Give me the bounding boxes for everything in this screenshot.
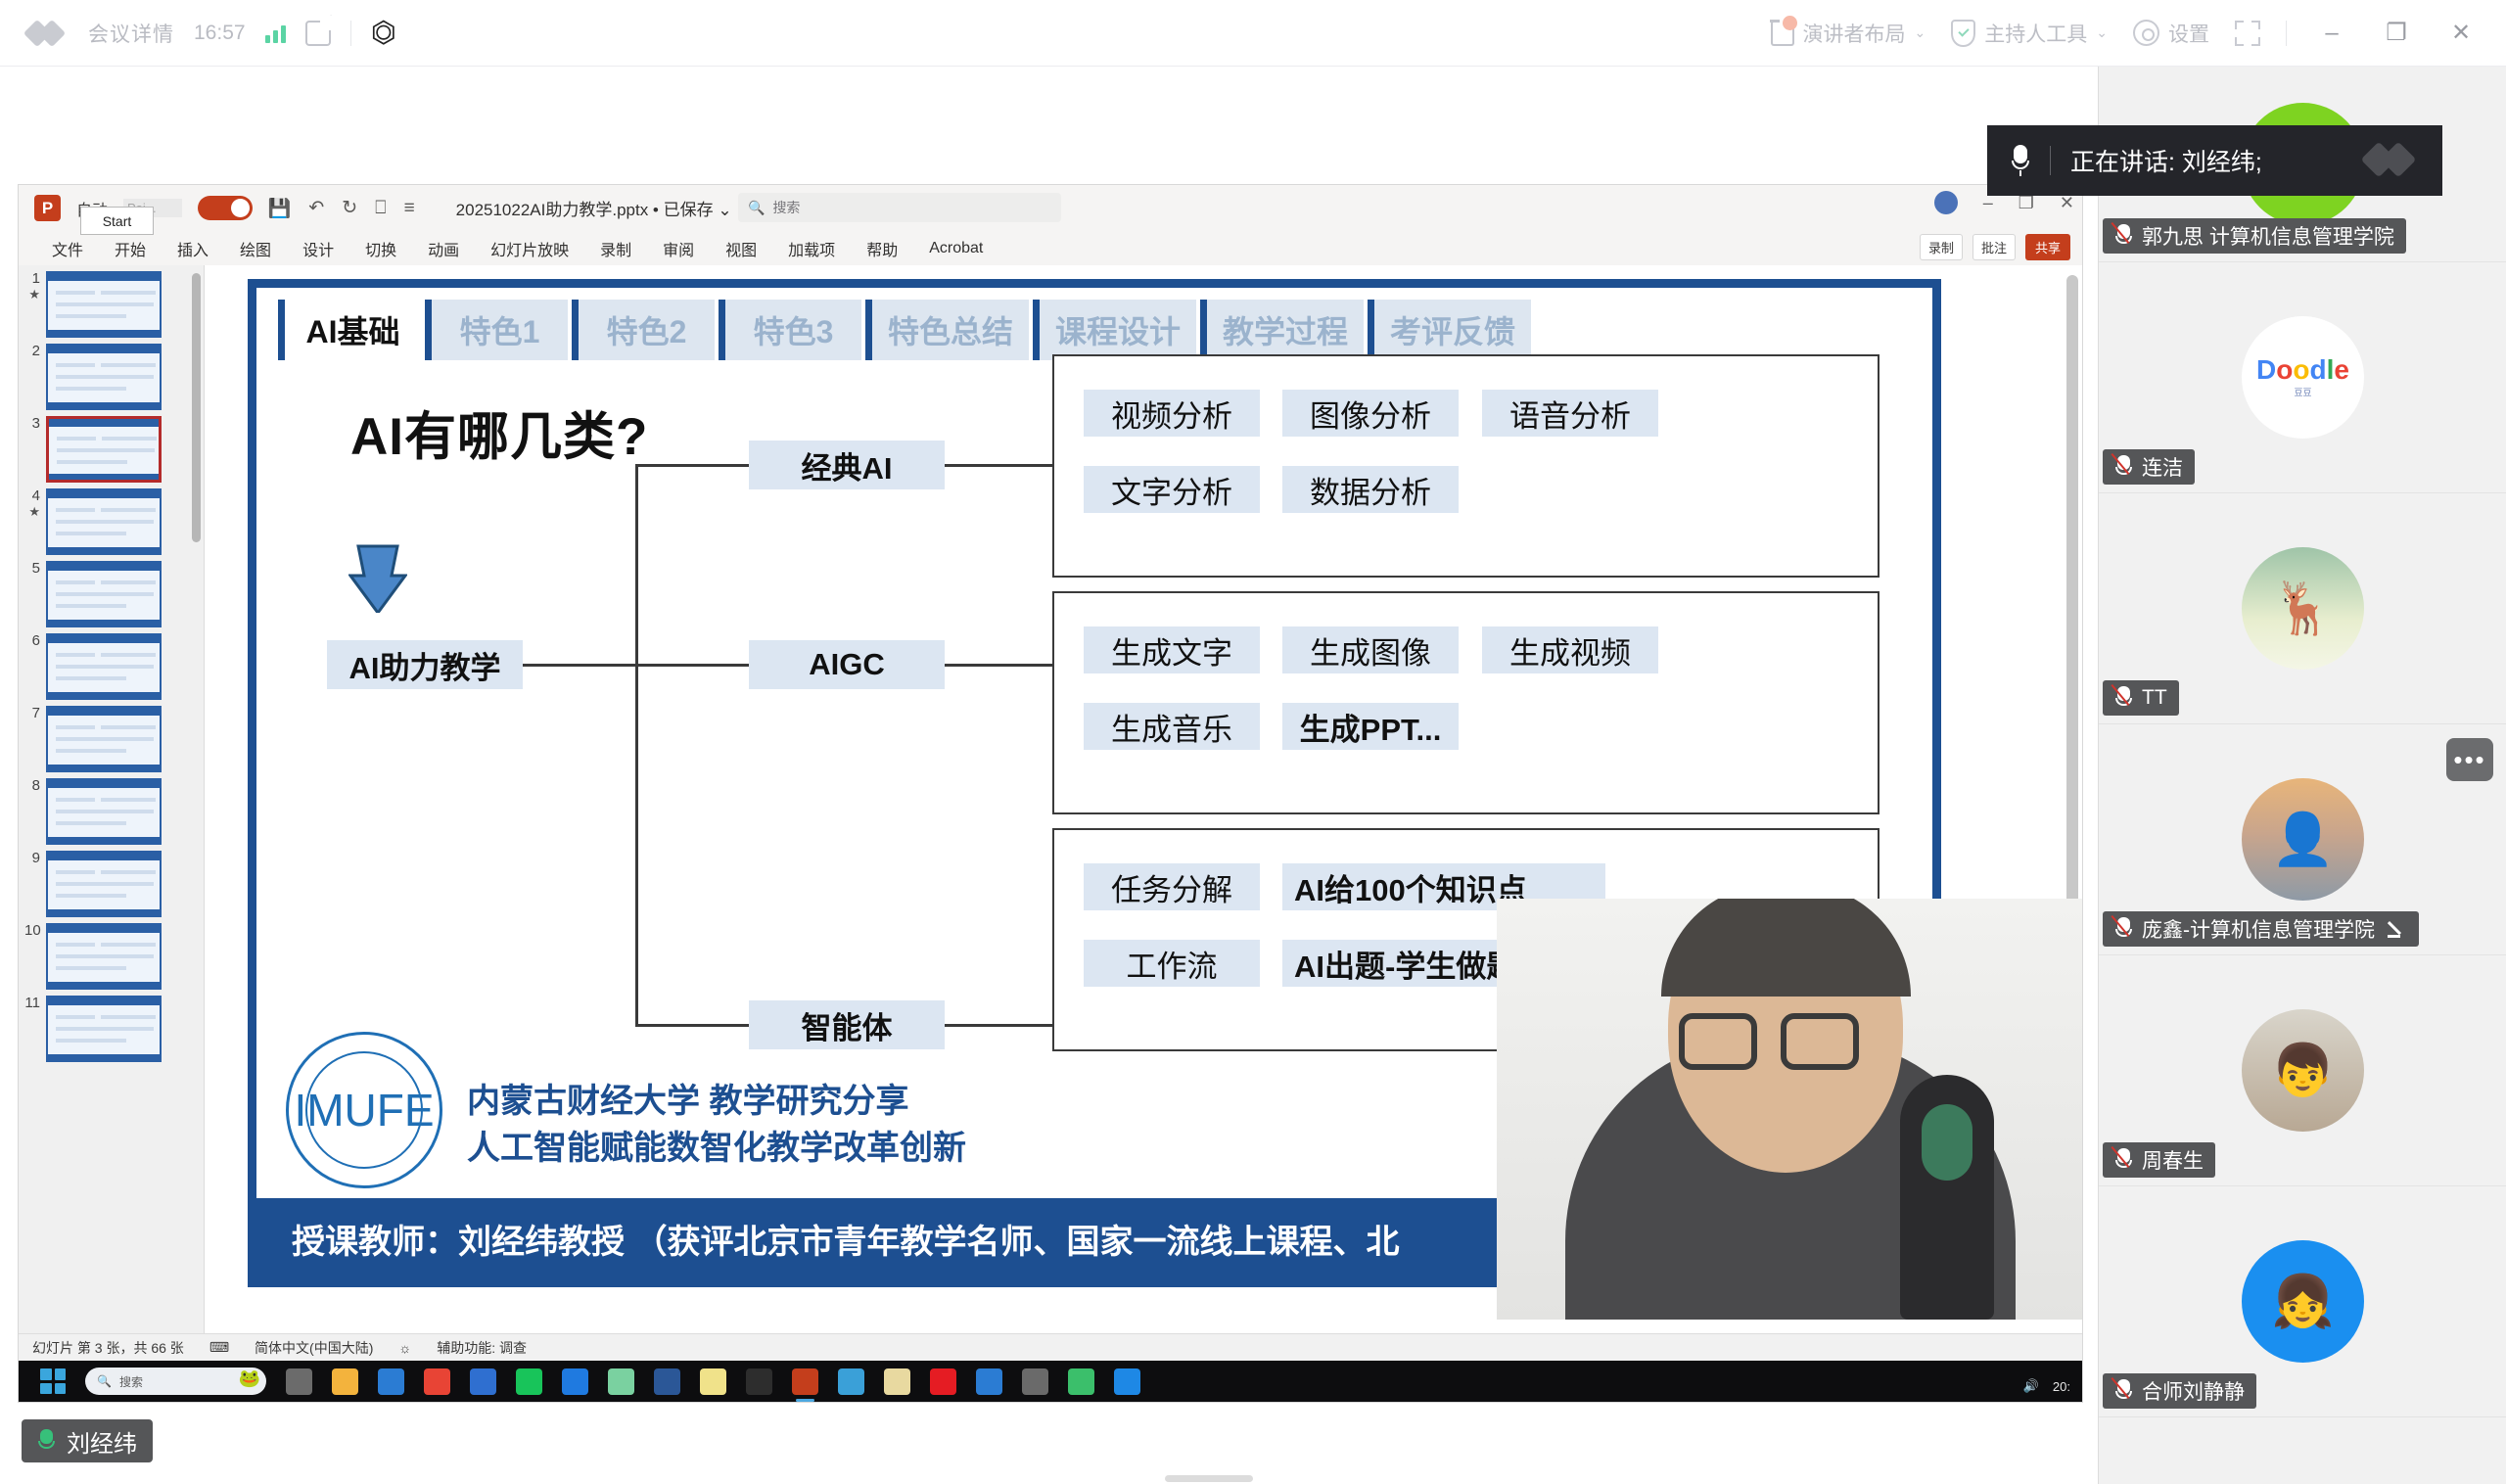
powerpoint-status-bar: 幻灯片 第 3 张，共 66 张 ⌨ 简体中文(中国大陆) ☼ 辅助功能: 调查: [19, 1333, 2083, 1361]
slide-thumbnail-preview[interactable]: [46, 996, 162, 1062]
settings-label: 设置: [2168, 19, 2209, 48]
participant-name: 合师刘静静: [2142, 1376, 2245, 1406]
ribbon-right-buttons: 录制 批注 共享: [1920, 234, 2070, 260]
slide-thumbnail-number: 1★: [24, 271, 40, 301]
slide-branch-label-agent: 智能体: [749, 1000, 945, 1049]
chrome-icon[interactable]: [424, 1368, 450, 1395]
ribbon-tab-help[interactable]: 帮助: [851, 237, 913, 260]
microphone-icon: [2011, 145, 2030, 176]
ribbon-tab-draw[interactable]: 绘图: [224, 237, 287, 260]
webcam-glasses-right: [1781, 1013, 1859, 1070]
participant-name: 周春生: [2142, 1145, 2204, 1175]
arrow-down-icon: [348, 542, 407, 613]
child-blue-avatar: 👧: [2242, 1240, 2364, 1363]
active-speaker-text: 正在讲话: 刘经纬;: [2070, 143, 2262, 178]
ppt-ribbon-tabs: 文件 开始 插入 绘图 设计 切换 动画 幻灯片放映 录制 审阅 视图 加载项 …: [19, 231, 2083, 265]
powerpoint-titlebar: P 自动 Poi... 💾 ↶ ↻ ⎕ ≡ 20251022AI助力教学.ppt…: [19, 185, 2083, 231]
signal-bars-icon[interactable]: [265, 23, 286, 43]
microphone-muted-icon: [2114, 455, 2133, 479]
meeting-detail-button[interactable]: 会议详情: [88, 19, 174, 48]
connector: [523, 664, 635, 667]
taskbar-clock: 20:: [2053, 1379, 2070, 1394]
slide-chip-generate-ppt: 生成PPT...: [1282, 703, 1459, 750]
university-seal-text: IMUFE: [305, 1051, 423, 1169]
avatar[interactable]: [1934, 191, 1958, 214]
app-logo-icon: [27, 23, 69, 44]
capybara-icon: 🐸: [239, 1368, 260, 1389]
recording-stop-icon[interactable]: ⏣: [371, 19, 404, 48]
search-icon: 🔍: [97, 1374, 112, 1388]
meeting-titlebar: 会议详情 16:57 ⏣ 演讲者布局 ⌄ 主持人工具 ⌄ 设置: [0, 0, 2506, 67]
doodle-logo-text: Doodle: [2256, 356, 2349, 384]
connector: [945, 664, 1052, 667]
shared-screen-content[interactable]: P 自动 Poi... 💾 ↶ ↻ ⎕ ≡ 20251022AI助力教学.ppt…: [18, 184, 2083, 1403]
accessibility-status[interactable]: 辅助功能: 调查: [437, 1338, 527, 1358]
self-name-label: 刘经纬: [67, 1424, 137, 1459]
slide-thumbnail-preview[interactable]: [46, 633, 162, 700]
windows-taskbar: 🔍 搜索 🐸 🔊 20:: [19, 1361, 2083, 1402]
autosave-toggle[interactable]: [198, 196, 253, 220]
quick-access-toolbar: 💾 ↶ ↻ ⎕ ≡: [268, 197, 415, 220]
titlebar-right-group: 演讲者布局 ⌄ 主持人工具 ⌄ 设置 – ❐ ✕: [1771, 19, 2506, 48]
shield-check-icon: [1951, 20, 1975, 47]
slide-thumbnail[interactable]: 11: [19, 990, 204, 1062]
slide-section-tabs: AI基础 特色1 特色2 特色3 特色总结 课程设计 教学过程 考评反馈: [278, 300, 1531, 360]
participant-more-options-button[interactable]: •••: [2446, 738, 2493, 781]
slide-chip-task-decomposition: 任务分解: [1084, 863, 1260, 910]
connector: [945, 464, 1052, 467]
slide-thumbnail-number: 3: [24, 416, 40, 433]
connector: [635, 1024, 749, 1027]
microphone-muted-icon: [2114, 917, 2133, 941]
university-line-2: 人工智能赋能数智化教学改革创新: [467, 1121, 966, 1169]
participant-name: 连洁: [2142, 452, 2183, 482]
save-icon[interactable]: 💾: [268, 197, 292, 220]
slide-thumbnail-preview[interactable]: [46, 923, 162, 990]
app-watermark-icon: [2366, 146, 2425, 175]
slide-tab-evaluation: 考评反馈: [1368, 300, 1531, 360]
shared-screen-stage: P 自动 Poi... 💾 ↶ ↻ ⎕ ≡ 20251022AI助力教学.ppt…: [0, 67, 2098, 1484]
gear-icon: [2133, 20, 2159, 46]
slide-thumbnail-number: 9: [24, 851, 40, 867]
ribbon-tab-acrobat[interactable]: Acrobat: [913, 240, 998, 257]
slide-tab-ai-basics: AI基础: [278, 300, 421, 360]
slide-thumbnail[interactable]: 10: [19, 917, 204, 990]
system-tray: 🔊 20:: [2023, 1378, 2070, 1394]
settings-icon[interactable]: [838, 1368, 864, 1395]
word-icon[interactable]: [654, 1368, 680, 1395]
doodle-avatar: Doodle豆豆: [2242, 316, 2364, 439]
connector: [635, 664, 749, 667]
slide-thumbnail[interactable]: 1★: [19, 265, 204, 338]
meeting-window: 会议详情 16:57 ⏣ 演讲者布局 ⌄ 主持人工具 ⌄ 设置: [0, 0, 2506, 1484]
slide-tab-feature2: 特色2: [572, 300, 715, 360]
participant-tile[interactable]: Doodle豆豆连洁: [2099, 262, 2506, 493]
chevron-down-icon: ⌄: [2096, 24, 2108, 41]
slide-thumbnail-preview[interactable]: [46, 706, 162, 772]
slide-chip-generate-text: 生成文字: [1084, 626, 1260, 673]
ribbon-tab-transitions[interactable]: 切换: [349, 237, 412, 260]
connector: [635, 464, 638, 1027]
slide-thumbnail-preview[interactable]: [46, 488, 162, 555]
volume-icon[interactable]: 🔊: [2023, 1378, 2039, 1394]
rename-pencil-icon[interactable]: [2388, 919, 2407, 939]
fullscreen-icon[interactable]: [2235, 21, 2260, 46]
task-view-icon[interactable]: [286, 1368, 312, 1395]
slide-chip-video-analysis: 视频分析: [1084, 390, 1260, 437]
presenter-layout-button[interactable]: 演讲者布局 ⌄: [1771, 19, 1926, 48]
presenter-layout-icon: [1771, 21, 1794, 46]
undo-icon[interactable]: ↶: [308, 197, 324, 219]
slide-thumbnail-number: 4★: [24, 488, 40, 519]
slide-thumbnail-number: 5: [24, 561, 40, 578]
slide-question-title: AI有哪几类?: [350, 395, 648, 470]
slide-thumbnail[interactable]: 8: [19, 772, 204, 845]
person-glyph: 👤: [2271, 810, 2335, 869]
comment-button[interactable]: 批注: [1972, 234, 2016, 260]
notes-icon[interactable]: ⌨: [209, 1339, 229, 1356]
slide-editing-area[interactable]: AI基础 特色1 特色2 特色3 特色总结 课程设计 教学过程 考评反馈 AI有…: [205, 265, 2083, 1361]
participant-name-badge: 连洁: [2103, 449, 2195, 485]
slide-branch-label-classic-ai: 经典AI: [749, 441, 945, 489]
search-icon: 🔍: [748, 200, 765, 216]
microphone-muted-icon: [2114, 1148, 2133, 1172]
divider: [2286, 21, 2287, 46]
slide-thumbnail-panel[interactable]: 1★234★567891011: [19, 265, 205, 1361]
slide-tab-course-design: 课程设计: [1033, 300, 1196, 360]
slide-thumbnail-number: 11: [24, 996, 40, 1012]
host-tools-button[interactable]: 主持人工具 ⌄: [1951, 19, 2108, 48]
powerpoint-icon: P: [34, 195, 61, 221]
mindmaster-icon[interactable]: [562, 1368, 588, 1395]
settings-button[interactable]: 设置: [2133, 19, 2209, 48]
participant-name-badge: 合师刘静静: [2103, 1373, 2256, 1409]
participant-name: 庞鑫-计算机信息管理学院: [2142, 914, 2375, 944]
ribbon-tab-animations[interactable]: 动画: [412, 237, 475, 260]
divider: [350, 21, 351, 46]
stage-bottom-handle[interactable]: [1165, 1475, 1253, 1482]
slide-thumbnail-number: 2: [24, 344, 40, 360]
slide-chip-generate-music: 生成音乐: [1084, 703, 1260, 750]
slide-chip-speech-analysis: 语音分析: [1482, 390, 1658, 437]
minimize-button[interactable]: –: [2312, 20, 2351, 47]
slide-thumbnail-preview[interactable]: [46, 416, 162, 483]
share-button[interactable]: 共享: [2025, 234, 2070, 260]
ppt-filename-text: 20251022AI助力教学.pptx • 已保存: [456, 201, 714, 219]
ribbon-tab-home[interactable]: 开始: [99, 237, 162, 260]
participant-name-badge: 周春生: [2103, 1142, 2215, 1178]
slide-thumbnail-preview[interactable]: [46, 851, 162, 917]
language-indicator[interactable]: 简体中文(中国大陆): [255, 1338, 373, 1358]
presenter-layout-label: 演讲者布局: [1803, 19, 1906, 48]
webcam-microphone: [1900, 1075, 1994, 1320]
host-tools-label: 主持人工具: [1984, 19, 2087, 48]
paint-icon[interactable]: [884, 1368, 910, 1395]
presenter-webcam-overlay: [1497, 899, 2083, 1320]
slide-thumbnail[interactable]: 6: [19, 627, 204, 700]
slide-thumbnail-preview[interactable]: [46, 344, 162, 410]
accessibility-icon: ☼: [398, 1340, 411, 1356]
external-link-icon[interactable]: [305, 21, 331, 46]
close-button[interactable]: ✕: [2441, 19, 2481, 47]
slide-counter: 幻灯片 第 3 张，共 66 张: [32, 1338, 184, 1358]
connector: [945, 1024, 1052, 1027]
slide-tab-feature3: 特色3: [719, 300, 861, 360]
maximize-button[interactable]: ❐: [2377, 19, 2416, 47]
webcam-person-hair: [1661, 899, 1911, 997]
slide-thumbnail[interactable]: 5: [19, 555, 204, 627]
slide-thumbnail-number: 8: [24, 778, 40, 795]
participant-name: TT: [2142, 686, 2167, 710]
slide-thumbnail[interactable]: 3: [19, 410, 204, 483]
child-glyph: 👧: [2271, 1272, 2335, 1331]
redo-icon[interactable]: ↻: [342, 197, 357, 219]
ribbon-tab-file[interactable]: 文件: [36, 237, 99, 260]
slide-thumbnail[interactable]: 9: [19, 845, 204, 917]
active-speaker-banner: 正在讲话: 刘经纬;: [1987, 125, 2442, 196]
start-tooltip: Start: [80, 207, 154, 235]
windows-start-icon[interactable]: [40, 1368, 66, 1394]
record-button[interactable]: 录制: [1920, 234, 1963, 260]
microphone-muted-icon: [2114, 224, 2133, 248]
slide-chip-generate-image: 生成图像: [1282, 626, 1459, 673]
slide-thumbnail-preview[interactable]: [46, 778, 162, 845]
slide-chip-text-analysis: 文字分析: [1084, 466, 1260, 513]
pc-manager-icon[interactable]: [1068, 1368, 1094, 1395]
slide-tab-feature1: 特色1: [425, 300, 568, 360]
slide-tab-teaching-process: 教学过程: [1200, 300, 1364, 360]
powerpoint-icon[interactable]: [792, 1368, 818, 1395]
ppt-search-input[interactable]: 🔍 搜索: [738, 193, 1061, 222]
ribbon-tab-addins[interactable]: 加载项: [772, 237, 851, 260]
foxit-icon[interactable]: [470, 1368, 496, 1395]
thumbnail-scrollbar[interactable]: [192, 273, 201, 542]
participant-name-badge: 郭九思 计算机信息管理学院: [2103, 218, 2406, 254]
participant-tile[interactable]: 👧合师刘静静: [2099, 1186, 2506, 1417]
terminal-icon[interactable]: [746, 1368, 772, 1395]
self-name-badge: 刘经纬: [22, 1419, 153, 1462]
participant-panel[interactable]: 🐸郭九思 计算机信息管理学院Doodle豆豆连洁🦌TT👤庞鑫-计算机信息管理学院…: [2098, 67, 2506, 1484]
participant-name: 郭九思 计算机信息管理学院: [2142, 221, 2394, 251]
participant-name-badge: 庞鑫-计算机信息管理学院: [2103, 911, 2419, 947]
child-glyph: 👦: [2271, 1041, 2335, 1100]
slide-thumbnail-preview[interactable]: [46, 271, 162, 338]
university-line-1: 内蒙古财经大学 教学研究分享: [467, 1074, 908, 1122]
slide-chip-generate-video: 生成视频: [1482, 626, 1658, 673]
ribbon-tab-design[interactable]: 设计: [287, 237, 349, 260]
notepad-icon[interactable]: [700, 1368, 726, 1395]
slide-thumbnail-number: 10: [24, 923, 40, 940]
store-icon[interactable]: [1114, 1368, 1140, 1395]
slide-chip-image-analysis: 图像分析: [1282, 390, 1459, 437]
participant-tile[interactable]: 🦌TT: [2099, 493, 2506, 724]
edge-icon[interactable]: [378, 1368, 404, 1395]
slide-tab-feature-summary: 特色总结: [865, 300, 1029, 360]
browser-icon[interactable]: [1022, 1368, 1048, 1395]
slide-thumbnail-preview[interactable]: [46, 561, 162, 627]
chevron-down-icon: ⌄: [718, 201, 731, 219]
kid-avatar: 👦: [2242, 1009, 2364, 1132]
slide-thumbnail[interactable]: 7: [19, 700, 204, 772]
participant-tile[interactable]: 👦周春生: [2099, 955, 2506, 1186]
doodle-logo-sub: 豆豆: [2294, 386, 2311, 398]
meeting-icon[interactable]: [976, 1368, 1002, 1395]
meeting-timer: 16:57: [194, 22, 246, 45]
chevron-down-icon: ⌄: [1915, 24, 1926, 41]
microphone-active-icon: [37, 1429, 56, 1453]
slide-chip-workflow: 工作流: [1084, 940, 1260, 987]
ribbon-tab-review[interactable]: 审阅: [647, 237, 710, 260]
seaside-avatar: 👤: [2242, 778, 2364, 901]
file-explorer-icon[interactable]: [332, 1368, 358, 1395]
slide-thumbnail-number: 6: [24, 633, 40, 650]
ribbon-tab-view[interactable]: 视图: [710, 237, 772, 260]
webcam-glasses-left: [1679, 1013, 1757, 1070]
ribbon-tab-insert[interactable]: 插入: [162, 237, 224, 260]
slide-chip-data-analysis: 数据分析: [1282, 466, 1459, 513]
slide-branch-label-aigc: AIGC: [749, 640, 945, 689]
ribbon-tab-slideshow[interactable]: 幻灯片放映: [475, 237, 584, 260]
deer-glyph: 🦌: [2271, 579, 2335, 638]
photos-icon[interactable]: [608, 1368, 634, 1395]
ppt-search-placeholder: 搜索: [772, 198, 800, 217]
slide-root-node: AI助力教学: [327, 640, 523, 689]
slide-thumbnail[interactable]: 2: [19, 338, 204, 410]
slide-thumbnail[interactable]: 4★: [19, 483, 204, 555]
university-seal-logo: IMUFE: [286, 1032, 442, 1188]
participant-name-badge: TT: [2103, 680, 2179, 716]
wechat-icon[interactable]: [516, 1368, 542, 1395]
divider: [2050, 146, 2051, 175]
powerpoint-body: 1★234★567891011 AI基础 特色1 特色2 特色3 特色总结: [19, 265, 2083, 1361]
ribbon-tab-record[interactable]: 录制: [584, 237, 647, 260]
participant-tile[interactable]: 👤庞鑫-计算机信息管理学院•••: [2099, 724, 2506, 955]
titlebar-left-group: 会议详情 16:57 ⏣: [0, 19, 404, 48]
microphone-muted-icon: [2114, 1379, 2133, 1403]
microphone-muted-icon: [2114, 686, 2133, 710]
taskbar-search-input[interactable]: 🔍 搜索 🐸: [85, 1368, 266, 1395]
taskbar-search-placeholder: 搜索: [119, 1373, 143, 1390]
slide-thumbnail-number: 7: [24, 706, 40, 722]
netease-music-icon[interactable]: [930, 1368, 956, 1395]
ppt-filename[interactable]: 20251022AI助力教学.pptx • 已保存 ⌄: [456, 196, 732, 220]
present-icon[interactable]: ⎕: [375, 198, 386, 219]
connector: [635, 464, 749, 467]
qat-more-icon[interactable]: ≡: [404, 198, 415, 219]
deer-avatar: 🦌: [2242, 547, 2364, 670]
